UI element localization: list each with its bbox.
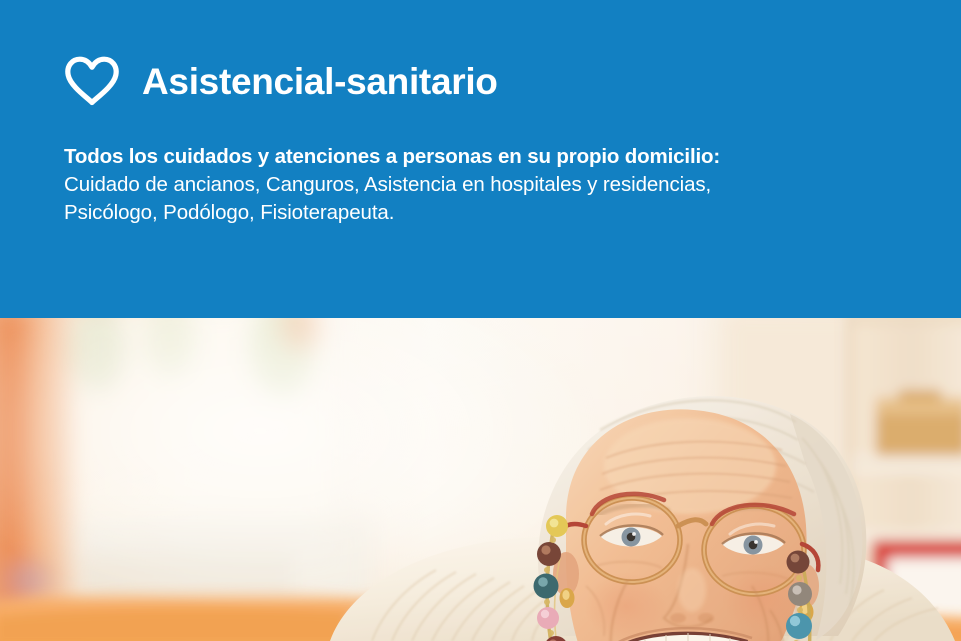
- title-row: Asistencial-sanitario: [64, 56, 498, 106]
- body-lead-line: Todos los cuidados y atenciones a person…: [64, 143, 934, 171]
- page-title: Asistencial-sanitario: [142, 63, 498, 100]
- heart-outline-icon: [64, 56, 120, 106]
- body-line-1: Cuidado de ancianos, Canguros, Asistenci…: [64, 171, 934, 199]
- blue-header-panel: Asistencial-sanitario Todos los cuidados…: [0, 0, 961, 318]
- body-copy: Todos los cuidados y atenciones a person…: [64, 143, 934, 227]
- body-line-2: Psicólogo, Podólogo, Fisioterapeuta.: [64, 199, 934, 227]
- promo-card: Asistencial-sanitario Todos los cuidados…: [0, 0, 961, 641]
- photo-elderly-woman: [0, 318, 961, 641]
